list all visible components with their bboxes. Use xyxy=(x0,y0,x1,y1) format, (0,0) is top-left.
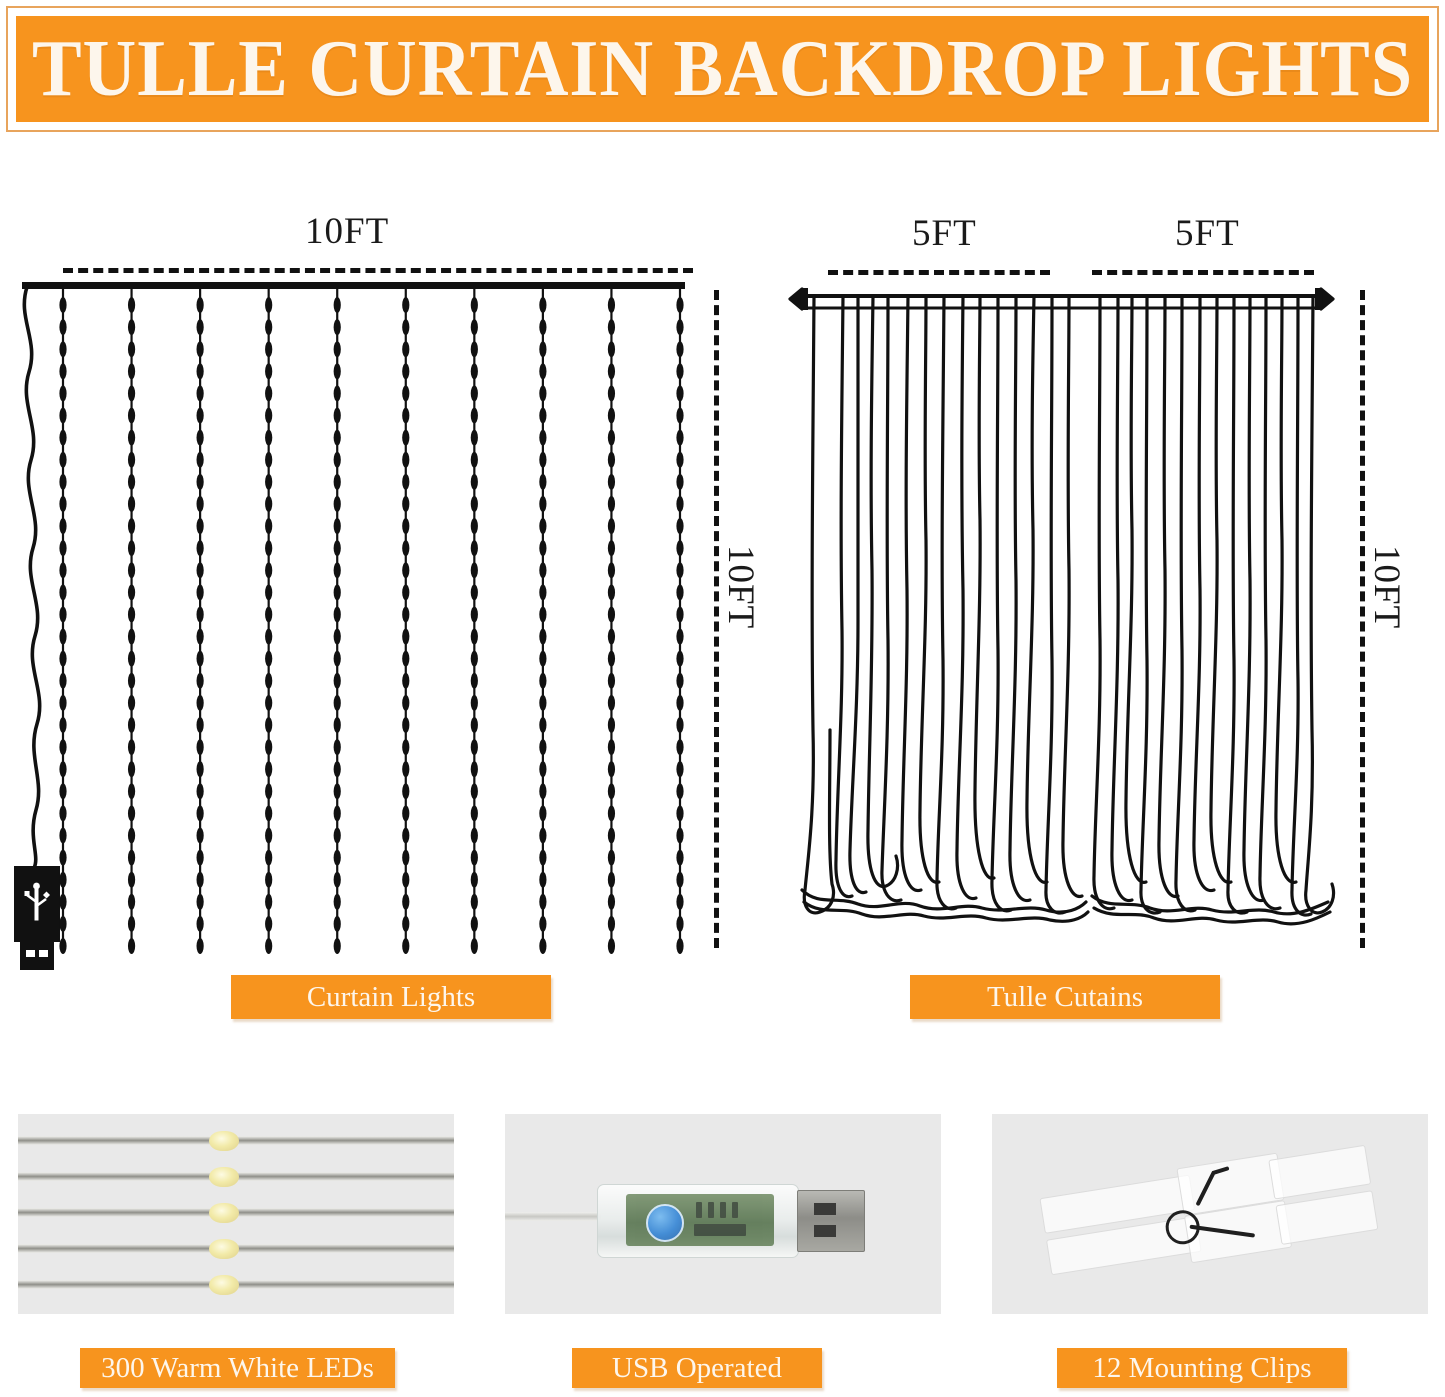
led-bead xyxy=(471,761,478,777)
clip-photo xyxy=(992,1114,1428,1314)
led-bead xyxy=(608,606,615,622)
led-bead xyxy=(265,938,272,954)
feature-card-leds xyxy=(18,1114,454,1314)
led-bead xyxy=(334,827,341,843)
led-bead xyxy=(539,805,546,821)
led-bead xyxy=(334,739,341,755)
led-bead xyxy=(608,739,615,755)
led-bead xyxy=(539,540,546,556)
led-bead xyxy=(334,430,341,446)
led-bead xyxy=(197,474,204,490)
led-bead xyxy=(128,938,135,954)
led-bead xyxy=(197,430,204,446)
led-bead xyxy=(539,938,546,954)
led-bead xyxy=(128,606,135,622)
led-bead xyxy=(265,341,272,357)
led-bead xyxy=(197,452,204,468)
led-bead xyxy=(471,584,478,600)
led-bead xyxy=(197,518,204,534)
led-bead xyxy=(128,452,135,468)
led-bead xyxy=(59,408,66,424)
led-bead xyxy=(334,584,341,600)
led-bead xyxy=(334,629,341,645)
led-bead xyxy=(197,385,204,401)
led-bead xyxy=(265,761,272,777)
led-bead xyxy=(676,805,683,821)
led-bead xyxy=(471,341,478,357)
led-bead xyxy=(471,363,478,379)
led-bead xyxy=(128,540,135,556)
led-bead xyxy=(59,319,66,335)
led-bead xyxy=(402,385,409,401)
led-bead xyxy=(265,894,272,910)
led-bead xyxy=(608,540,615,556)
led-bead xyxy=(265,629,272,645)
led-bead xyxy=(128,805,135,821)
led-bead xyxy=(334,695,341,711)
clip-spring-arms xyxy=(1038,1137,1380,1292)
led-bead xyxy=(265,673,272,689)
led-bead xyxy=(197,894,204,910)
led-bead xyxy=(676,562,683,578)
mounting-clip xyxy=(1038,1137,1380,1292)
led-bead xyxy=(539,319,546,335)
led-bead xyxy=(471,629,478,645)
led-bead xyxy=(539,717,546,733)
led-bead xyxy=(402,717,409,733)
led-bead xyxy=(608,872,615,888)
feature-card-usb xyxy=(505,1114,941,1314)
led-bead xyxy=(471,805,478,821)
led-bead xyxy=(402,606,409,622)
led-bead xyxy=(334,761,341,777)
led-bead xyxy=(676,673,683,689)
led-bead xyxy=(676,297,683,313)
led-bead xyxy=(197,496,204,512)
usb-chip xyxy=(696,1202,702,1218)
led-bead xyxy=(265,297,272,313)
led-bead xyxy=(197,850,204,866)
led-bead xyxy=(539,629,546,645)
led-bead xyxy=(471,651,478,667)
led-bead xyxy=(334,562,341,578)
led-bead xyxy=(197,827,204,843)
led-bead xyxy=(128,916,135,932)
led-bead xyxy=(59,629,66,645)
led-strand xyxy=(471,289,478,954)
led-strand xyxy=(265,289,272,954)
led-bead xyxy=(265,872,272,888)
led-bead xyxy=(402,805,409,821)
led-bead xyxy=(59,894,66,910)
led-bead xyxy=(471,916,478,932)
led-bead xyxy=(608,518,615,534)
curtain-lights-strands xyxy=(0,190,760,980)
led-bead xyxy=(265,739,272,755)
led-bead xyxy=(334,651,341,667)
led-bead xyxy=(334,673,341,689)
led-bead xyxy=(265,518,272,534)
led-bead xyxy=(402,894,409,910)
led-bead xyxy=(676,916,683,932)
led-bead xyxy=(676,496,683,512)
led-bead xyxy=(471,827,478,843)
led-bead xyxy=(402,540,409,556)
led-bead xyxy=(539,783,546,799)
led-bead xyxy=(676,341,683,357)
led-bead xyxy=(608,717,615,733)
led-bead xyxy=(128,562,135,578)
led-bead xyxy=(197,805,204,821)
led-bead xyxy=(128,850,135,866)
led-bead xyxy=(128,319,135,335)
led-bead xyxy=(59,739,66,755)
title-banner: TULLE CURTAIN BACKDROP LIGHTS xyxy=(16,16,1429,122)
feature-label-leds: 300 Warm White LEDs xyxy=(80,1348,395,1388)
led-bead xyxy=(676,739,683,755)
curtain-lights-diagram: 10FT 10FT Curtain Lights xyxy=(0,190,760,980)
led-bead xyxy=(197,761,204,777)
led-bead xyxy=(128,496,135,512)
led-bead xyxy=(608,805,615,821)
led-bead xyxy=(676,894,683,910)
led-bead xyxy=(539,496,546,512)
led-bead xyxy=(402,430,409,446)
led-bead xyxy=(471,894,478,910)
led-bead xyxy=(608,385,615,401)
led-bead xyxy=(128,894,135,910)
led-bead xyxy=(471,695,478,711)
led-bead xyxy=(128,363,135,379)
led-bead xyxy=(265,717,272,733)
led-bead xyxy=(265,540,272,556)
led-bead xyxy=(676,783,683,799)
led-bead xyxy=(402,673,409,689)
led-bead xyxy=(59,783,66,799)
led-bead xyxy=(539,518,546,534)
led-bead xyxy=(471,673,478,689)
led-bead xyxy=(59,606,66,622)
led-bead xyxy=(59,540,66,556)
led-photo xyxy=(18,1114,454,1314)
led-bead xyxy=(128,827,135,843)
led-bead xyxy=(402,363,409,379)
led-bead xyxy=(471,850,478,866)
led-bead xyxy=(197,916,204,932)
tulle-curtains-diagram: 5FT 5FT 10FT xyxy=(780,190,1445,980)
led-bead xyxy=(128,629,135,645)
led-bead xyxy=(128,717,135,733)
led-strand xyxy=(539,289,546,954)
led-bead xyxy=(197,540,204,556)
led-bead xyxy=(608,341,615,357)
led-bead xyxy=(608,474,615,490)
led-bead xyxy=(471,717,478,733)
led-bead xyxy=(265,562,272,578)
led-bead xyxy=(539,916,546,932)
led-bead xyxy=(209,1131,239,1151)
led-bead xyxy=(608,783,615,799)
led-bead xyxy=(402,651,409,667)
led-bead xyxy=(197,606,204,622)
led-bead xyxy=(59,916,66,932)
led-bead xyxy=(402,452,409,468)
led-bead xyxy=(608,916,615,932)
led-bead xyxy=(539,651,546,667)
led-bead xyxy=(471,540,478,556)
feature-card-clips xyxy=(992,1114,1428,1314)
led-bead xyxy=(471,496,478,512)
usb-chip xyxy=(708,1202,714,1218)
led-bead xyxy=(59,938,66,954)
led-bead xyxy=(265,850,272,866)
led-bead xyxy=(128,474,135,490)
led-bead xyxy=(608,562,615,578)
led-bead xyxy=(59,385,66,401)
led-bead xyxy=(539,673,546,689)
led-bead xyxy=(128,761,135,777)
led-bead xyxy=(334,518,341,534)
usb-circuit-board xyxy=(626,1194,774,1246)
led-bead xyxy=(265,695,272,711)
led-bead xyxy=(265,430,272,446)
tulle-curtains-artwork xyxy=(780,190,1445,980)
led-bead xyxy=(539,850,546,866)
led-bead xyxy=(59,452,66,468)
led-bead xyxy=(471,606,478,622)
led-bead xyxy=(197,562,204,578)
usb-chip xyxy=(694,1224,746,1236)
led-bead xyxy=(402,783,409,799)
led-bead xyxy=(334,474,341,490)
feature-label-leds-text: 300 Warm White LEDs xyxy=(101,1352,374,1385)
led-bead xyxy=(608,761,615,777)
led-bead xyxy=(128,430,135,446)
led-bead xyxy=(197,319,204,335)
led-bead xyxy=(402,695,409,711)
led-bead xyxy=(676,717,683,733)
led-bead xyxy=(59,518,66,534)
led-bead xyxy=(59,430,66,446)
led-bead xyxy=(608,629,615,645)
led-bead xyxy=(128,584,135,600)
led-bead xyxy=(608,363,615,379)
led-bead xyxy=(334,540,341,556)
usb-power-button[interactable] xyxy=(646,1204,684,1242)
led-bead xyxy=(402,584,409,600)
led-bead xyxy=(265,805,272,821)
usb-plug-icon xyxy=(14,866,60,970)
led-bead xyxy=(608,319,615,335)
led-bead xyxy=(539,761,546,777)
led-bead xyxy=(59,584,66,600)
led-bead xyxy=(539,827,546,843)
led-bead xyxy=(59,761,66,777)
led-bead xyxy=(209,1203,239,1223)
led-bead xyxy=(402,629,409,645)
usb-controller-housing xyxy=(597,1184,799,1258)
led-bead xyxy=(539,297,546,313)
led-bead xyxy=(334,894,341,910)
led-bead xyxy=(539,695,546,711)
led-bead xyxy=(402,916,409,932)
led-bead xyxy=(539,452,546,468)
led-bead xyxy=(402,562,409,578)
led-bead xyxy=(334,783,341,799)
led-bead xyxy=(539,408,546,424)
feature-label-usb-text: USB Operated xyxy=(612,1352,782,1385)
curtain-lights-caption: Curtain Lights xyxy=(231,975,551,1019)
led-bead xyxy=(402,872,409,888)
led-bead xyxy=(471,562,478,578)
led-bead xyxy=(265,783,272,799)
led-bead xyxy=(676,474,683,490)
led-bead xyxy=(608,827,615,843)
led-bead xyxy=(59,496,66,512)
led-bead xyxy=(59,363,66,379)
led-bead xyxy=(676,540,683,556)
led-bead xyxy=(676,761,683,777)
led-bead xyxy=(676,385,683,401)
led-bead xyxy=(608,938,615,954)
led-bead xyxy=(608,408,615,424)
led-bead xyxy=(265,385,272,401)
feature-label-usb: USB Operated xyxy=(572,1348,822,1388)
led-bead xyxy=(471,319,478,335)
feature-label-clips-text: 12 Mounting Clips xyxy=(1092,1352,1311,1385)
led-bead xyxy=(334,363,341,379)
led-bead xyxy=(59,805,66,821)
led-bead xyxy=(59,695,66,711)
led-bead xyxy=(209,1239,239,1259)
led-bead xyxy=(128,651,135,667)
led-bead xyxy=(265,474,272,490)
led-bead xyxy=(402,850,409,866)
led-bead xyxy=(471,872,478,888)
led-strand xyxy=(608,289,615,954)
led-bead xyxy=(265,651,272,667)
led-bead xyxy=(334,606,341,622)
led-bead xyxy=(197,783,204,799)
led-bead xyxy=(676,629,683,645)
led-bead xyxy=(197,872,204,888)
led-bead xyxy=(608,496,615,512)
led-bead xyxy=(334,341,341,357)
led-bead xyxy=(676,363,683,379)
led-bead xyxy=(676,452,683,468)
led-bead xyxy=(265,452,272,468)
led-bead xyxy=(471,518,478,534)
led-bead xyxy=(402,518,409,534)
led-bead xyxy=(334,297,341,313)
led-bead xyxy=(128,872,135,888)
led-bead xyxy=(197,408,204,424)
led-bead xyxy=(676,695,683,711)
power-cord-wire xyxy=(24,287,39,868)
led-bead xyxy=(608,673,615,689)
led-bead xyxy=(471,783,478,799)
usb-chip xyxy=(732,1202,738,1218)
tulle-panel-right xyxy=(1092,296,1334,924)
led-bead xyxy=(334,805,341,821)
led-bead xyxy=(59,717,66,733)
led-bead xyxy=(608,584,615,600)
led-bead xyxy=(265,584,272,600)
led-bead xyxy=(334,385,341,401)
led-bead xyxy=(608,430,615,446)
led-bead xyxy=(539,872,546,888)
led-bead xyxy=(676,319,683,335)
led-bead xyxy=(265,827,272,843)
usb-connector-slot xyxy=(814,1225,836,1237)
led-bead xyxy=(59,474,66,490)
led-bead xyxy=(59,341,66,357)
usb-connector-slot xyxy=(814,1203,836,1215)
led-bead xyxy=(334,496,341,512)
led-strand xyxy=(197,289,204,954)
led-strand xyxy=(128,289,135,954)
led-bead xyxy=(265,319,272,335)
led-bead xyxy=(197,739,204,755)
led-strand xyxy=(334,289,341,954)
led-bead xyxy=(608,651,615,667)
led-bead xyxy=(402,408,409,424)
led-bead xyxy=(676,584,683,600)
led-bead xyxy=(128,739,135,755)
led-bead xyxy=(402,341,409,357)
led-bead xyxy=(265,408,272,424)
led-bead xyxy=(676,518,683,534)
led-bead xyxy=(265,496,272,512)
led-bead xyxy=(197,651,204,667)
led-bead xyxy=(676,938,683,954)
led-bead xyxy=(471,452,478,468)
led-bead xyxy=(676,850,683,866)
led-bead xyxy=(471,297,478,313)
led-bead xyxy=(128,673,135,689)
led-bead xyxy=(59,673,66,689)
led-bead xyxy=(676,651,683,667)
led-bead xyxy=(197,673,204,689)
led-bead xyxy=(128,297,135,313)
led-bead xyxy=(334,872,341,888)
led-bead xyxy=(539,430,546,446)
led-bead xyxy=(402,496,409,512)
led-bead xyxy=(197,695,204,711)
led-bead xyxy=(471,408,478,424)
led-bead xyxy=(471,938,478,954)
led-bead xyxy=(539,363,546,379)
tulle-curtains-caption-text: Tulle Cutains xyxy=(987,981,1143,1014)
usb-chip xyxy=(720,1202,726,1218)
page-title: TULLE CURTAIN BACKDROP LIGHTS xyxy=(32,29,1413,109)
led-bead xyxy=(265,363,272,379)
curtain-lights-caption-text: Curtain Lights xyxy=(307,981,475,1014)
led-bead xyxy=(59,651,66,667)
led-bead xyxy=(128,695,135,711)
led-bead xyxy=(539,562,546,578)
led-bead xyxy=(539,894,546,910)
led-bead xyxy=(59,297,66,313)
led-bead xyxy=(471,430,478,446)
led-bead xyxy=(608,695,615,711)
led-bead xyxy=(608,850,615,866)
led-bead xyxy=(128,518,135,534)
led-bead xyxy=(197,363,204,379)
led-bead xyxy=(197,938,204,954)
led-bead xyxy=(608,894,615,910)
led-bead xyxy=(608,297,615,313)
